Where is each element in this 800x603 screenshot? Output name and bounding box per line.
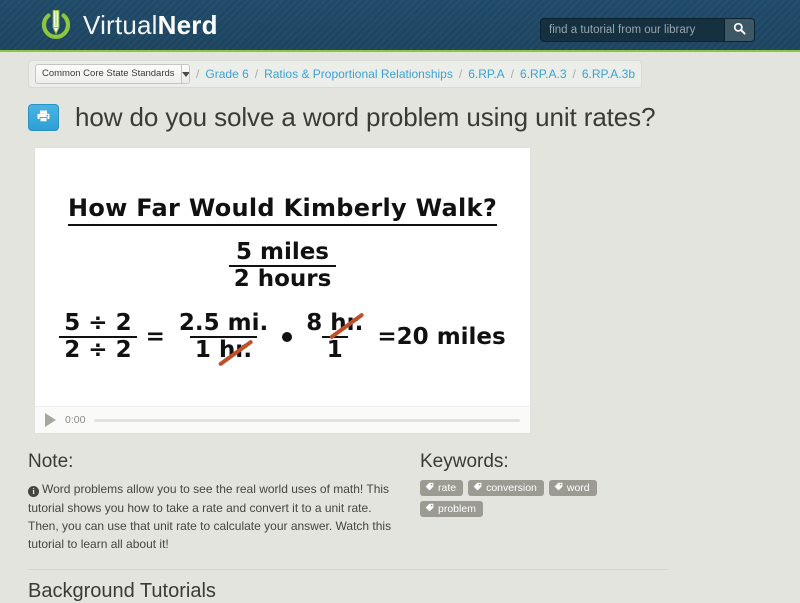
- info-icon: i: [28, 486, 39, 497]
- equation-term2-fraction: 8 hr. 1: [301, 311, 368, 363]
- whiteboard-equation: 5 ÷ 2 2 ÷ 2 = 2.5 mi. 1 hr. 8 hr. 1 =20 …: [35, 311, 530, 363]
- logo-word-nerd: Nerd: [158, 10, 218, 40]
- keyword-tag-rate[interactable]: rate: [420, 480, 463, 496]
- keyword-tag-problem[interactable]: problem: [420, 501, 483, 517]
- search-button[interactable]: [724, 19, 754, 41]
- keyword-tag-label: word: [567, 482, 590, 494]
- strikethrough-hr: hr.: [219, 338, 252, 363]
- whiteboard-rate-fraction: 5 miles 2 hours: [35, 240, 530, 292]
- breadcrumb-separator: /: [196, 67, 199, 81]
- standard-select-value: Common Core State Standards: [36, 65, 181, 83]
- keyword-tag-word[interactable]: word: [549, 480, 597, 496]
- rate-denominator: 2 hours: [229, 265, 337, 292]
- keyword-tag-label: rate: [438, 482, 456, 494]
- site-logo[interactable]: VirtualNerd: [38, 7, 218, 43]
- lower-section: Note: iWord problems allow you to see th…: [28, 451, 668, 553]
- breadcrumb-item-ratios[interactable]: Ratios & Proportional Relationships: [264, 67, 453, 81]
- print-button[interactable]: [28, 104, 59, 131]
- breadcrumb-separator: /: [459, 67, 462, 81]
- equation-term1-fraction: 2.5 mi. 1 hr.: [174, 311, 273, 363]
- standard-select-toggle[interactable]: [181, 65, 190, 83]
- keywords-heading: Keywords:: [420, 451, 660, 473]
- strikethrough-hr: hr.: [330, 311, 363, 336]
- page-title: how do you solve a word problem using un…: [75, 100, 655, 134]
- breadcrumb-separator: /: [255, 67, 258, 81]
- equation-term1-denominator: 1 hr.: [190, 336, 257, 363]
- breadcrumb-item-rpa3[interactable]: 6.RP.A.3: [520, 67, 566, 81]
- note-body-wrap: iWord problems allow you to see the real…: [28, 480, 396, 553]
- power-pencil-logo-icon: [38, 7, 74, 43]
- printer-icon: [36, 109, 51, 126]
- search-icon: [733, 22, 746, 38]
- logo-wordmark: VirtualNerd: [83, 12, 218, 38]
- tag-icon: [425, 482, 434, 494]
- keyword-tag-label: conversion: [486, 482, 537, 494]
- keyword-tag-list: rate conversion word problem: [420, 480, 660, 517]
- equation-left-fraction: 5 ÷ 2 2 ÷ 2: [59, 311, 136, 363]
- whiteboard-frame: How Far Would Kimberly Walk? 5 miles 2 h…: [35, 148, 530, 406]
- site-header: VirtualNerd: [0, 0, 800, 52]
- breadcrumb-separator: /: [573, 67, 576, 81]
- keywords-section: Keywords: rate conversion word: [420, 451, 660, 553]
- rate-numerator: 5 miles: [231, 240, 334, 265]
- video-player[interactable]: How Far Would Kimberly Walk? 5 miles 2 h…: [35, 148, 530, 433]
- keyword-tag-label: problem: [438, 503, 476, 515]
- search-box[interactable]: [540, 18, 755, 42]
- breadcrumb-separator: /: [511, 67, 514, 81]
- breadcrumb-item-rpa3b[interactable]: 6.RP.A.3b: [582, 67, 635, 81]
- standard-select[interactable]: Common Core State Standards: [35, 64, 190, 84]
- video-progress-bar[interactable]: [94, 419, 520, 422]
- tag-icon: [473, 482, 482, 494]
- logo-word-virtual: Virtual: [83, 10, 158, 40]
- equation-term2-numerator: 8 hr.: [301, 311, 368, 336]
- video-controls: 0:00: [35, 406, 530, 433]
- search-input[interactable]: [541, 19, 724, 41]
- keyword-tag-conversion[interactable]: conversion: [468, 480, 544, 496]
- equation-result: =20 miles: [377, 324, 505, 350]
- note-heading: Note:: [28, 451, 396, 473]
- video-time-label: 0:00: [65, 414, 85, 426]
- breadcrumb-item-rpa[interactable]: 6.RP.A: [468, 67, 504, 81]
- multiplication-dot-icon: [282, 332, 292, 342]
- note-body-text: Word problems allow you to see the real …: [28, 482, 391, 551]
- title-row: how do you solve a word problem using un…: [28, 100, 668, 134]
- equation-equals: =: [146, 324, 165, 350]
- breadcrumb-item-grade-6[interactable]: Grade 6: [205, 67, 248, 81]
- chevron-down-icon: [182, 72, 190, 77]
- play-icon[interactable]: [45, 413, 56, 427]
- whiteboard-heading: How Far Would Kimberly Walk?: [35, 194, 530, 222]
- note-section: Note: iWord problems allow you to see th…: [28, 451, 396, 553]
- tag-icon: [425, 503, 434, 515]
- background-tutorials-section: Background Tutorials: [28, 569, 668, 603]
- breadcrumb: Common Core State Standards / Grade 6 / …: [28, 60, 642, 88]
- tag-icon: [554, 482, 563, 494]
